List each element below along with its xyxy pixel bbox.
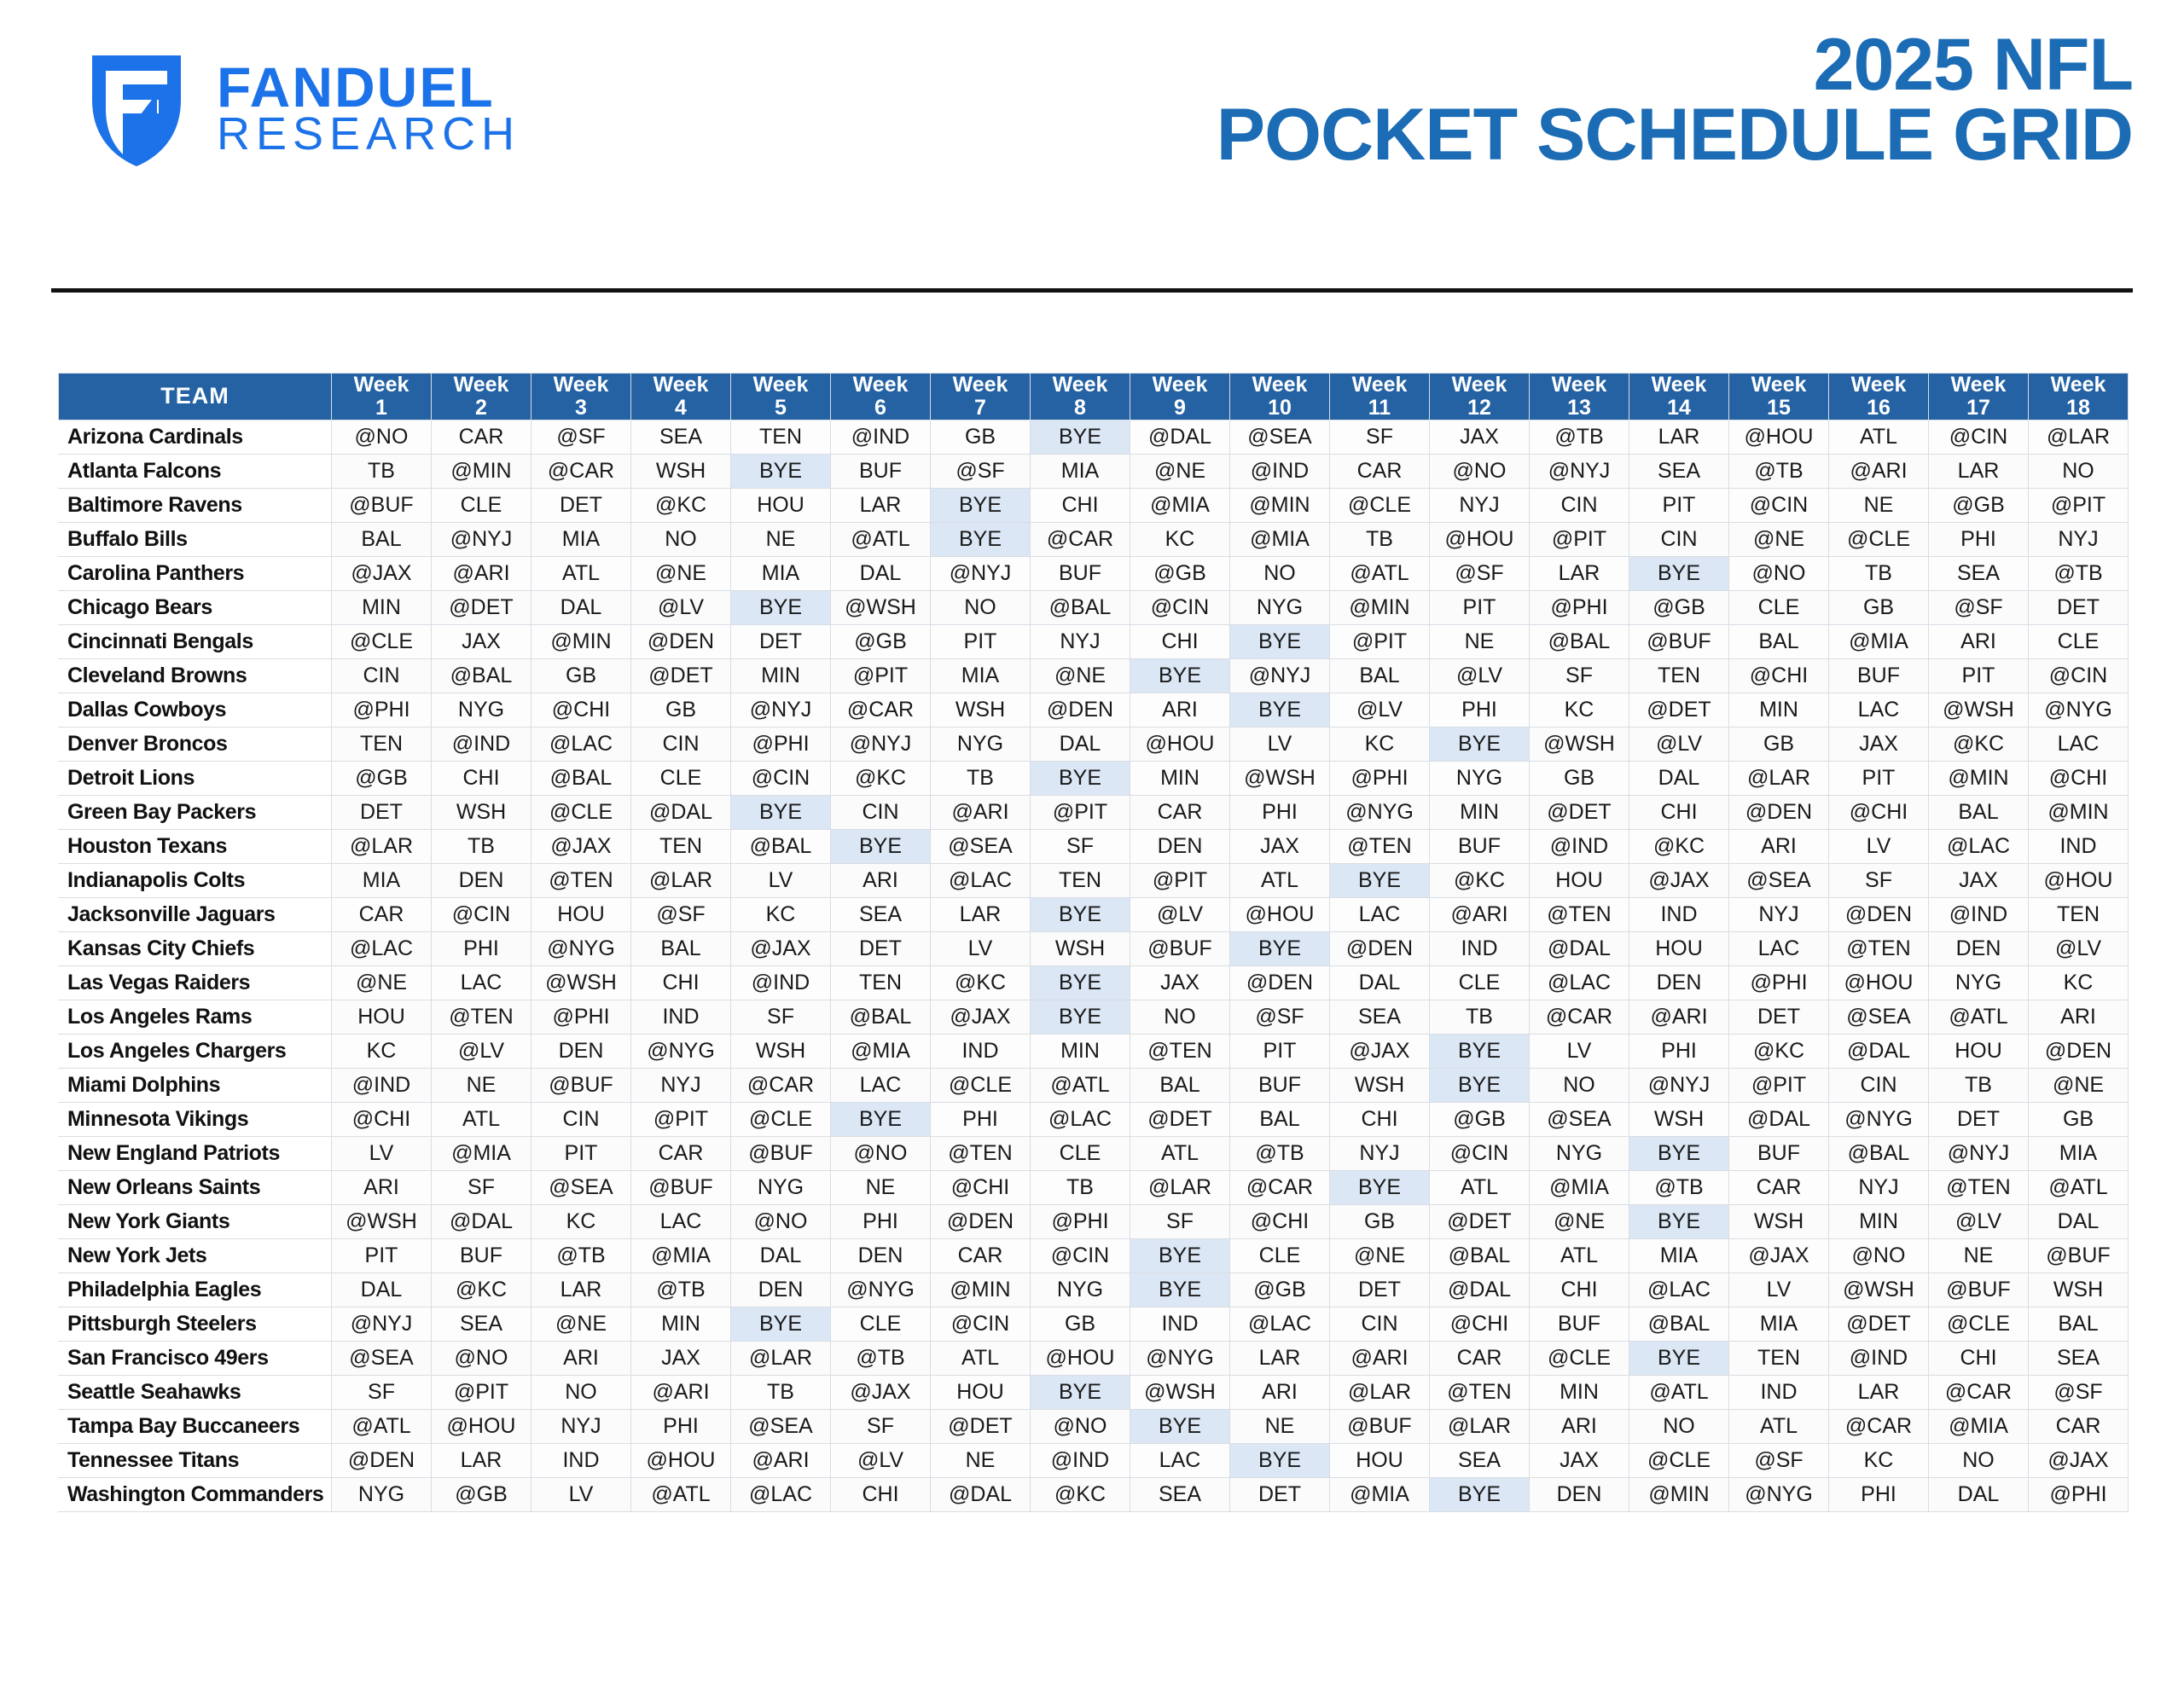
matchup-cell: LV [1230,727,1330,761]
matchup-cell: @PIT [1031,795,1130,829]
matchup-cell: @DAL [432,1204,531,1238]
table-row: New York JetsPITBUF@TB@MIADALDENCAR@CINB… [59,1238,2129,1272]
week-word: Week [1130,374,1229,397]
matchup-cell: GB [1829,590,1929,624]
team-name-cell: Cincinnati Bengals [59,624,332,658]
matchup-cell: DAL [531,590,631,624]
matchup-cell: @MIN [2029,795,2129,829]
table-row: Carolina Panthers@JAX@ARIATL@NEMIADAL@NY… [59,556,2129,590]
matchup-cell: @HOU [432,1409,531,1443]
matchup-cell: NYJ [2029,522,2129,556]
matchup-cell: MIN [1829,1204,1929,1238]
matchup-cell: NYJ [631,1068,731,1102]
matchup-cell: LAR [1929,454,2029,488]
matchup-cell: @IND [831,420,931,454]
matchup-cell: NO [531,1375,631,1409]
matchup-cell: @JAX [332,556,432,590]
matchup-cell: LAC [2029,727,2129,761]
matchup-cell: @PIT [1729,1068,1829,1102]
table-row: San Francisco 49ers@SEA@NOARIJAX@LAR@TBA… [59,1341,2129,1375]
matchup-cell: @BUF [531,1068,631,1102]
matchup-cell: MIA [1729,1307,1829,1341]
matchup-cell: @ARI [1629,1000,1729,1034]
matchup-cell: @SEA [332,1341,432,1375]
matchup-cell: @BUF [332,488,432,522]
matchup-cell: @LV [2029,931,2129,965]
matchup-cell: DET [332,795,432,829]
matchup-cell: @CIN [1729,488,1829,522]
matchup-cell: @DET [432,590,531,624]
matchup-cell: @TEN [1530,897,1629,931]
matchup-cell: @KC [931,965,1031,1000]
matchup-cell: CHI [1330,1102,1430,1136]
matchup-cell: @DEN [1829,897,1929,931]
matchup-cell: ATL [1530,1238,1629,1272]
matchup-cell: TEN [1729,1341,1829,1375]
matchup-cell: @MIA [1230,522,1330,556]
week-number: 18 [2029,397,2128,420]
matchup-cell: @DAL [631,795,731,829]
matchup-cell: DET [1230,1477,1330,1511]
matchup-cell: CIN [1629,522,1729,556]
matchup-cell: BUF [1230,1068,1330,1102]
matchup-cell: CHI [432,761,531,795]
matchup-cell: DEN [731,1272,831,1307]
matchup-cell: @IND [1929,897,2029,931]
team-name-cell: Dallas Cowboys [59,693,332,727]
matchup-cell: @LAC [1629,1272,1729,1307]
table-row: Los Angeles ChargersKC@LVDEN@NYGWSH@MIAI… [59,1034,2129,1068]
matchup-cell: @CIN [1430,1136,1530,1170]
matchup-cell: KC [1130,522,1230,556]
matchup-cell: ARI [1230,1375,1330,1409]
matchup-cell: @SEA [1530,1102,1629,1136]
matchup-cell: @WSH [1530,727,1629,761]
matchup-cell: MIN [1530,1375,1629,1409]
matchup-cell: @JAX [531,829,631,863]
bye-cell: BYE [1130,1272,1230,1307]
fanduel-shield-icon [85,47,188,171]
matchup-cell: NYJ [1031,624,1130,658]
matchup-cell: NO [931,590,1031,624]
matchup-cell: CIN [1330,1307,1430,1341]
bye-cell: BYE [931,522,1031,556]
week-number: 10 [1230,397,1329,420]
matchup-cell: TEN [731,420,831,454]
matchup-cell: @LV [1929,1204,2029,1238]
matchup-cell: @CLE [1629,1443,1729,1477]
bye-cell: BYE [1130,1409,1230,1443]
brand-wordmark: FANDUEL RESEARCH [217,61,520,155]
matchup-cell: @LAR [731,1341,831,1375]
table-row: Tennessee Titans@DENLARIND@HOU@ARI@LVNE@… [59,1443,2129,1477]
matchup-cell: @KC [1430,863,1530,897]
matchup-cell: NYG [1230,590,1330,624]
matchup-cell: SEA [2029,1341,2129,1375]
matchup-cell: @NE [1031,658,1130,693]
matchup-cell: SEA [432,1307,531,1341]
matchup-cell: @DET [1530,795,1629,829]
matchup-cell: @LV [1130,897,1230,931]
matchup-cell: HOU [731,488,831,522]
matchup-cell: IND [631,1000,731,1034]
matchup-cell: ATL [931,1341,1031,1375]
matchup-cell: WSH [631,454,731,488]
matchup-cell: @IND [731,965,831,1000]
matchup-cell: NYG [731,1170,831,1204]
matchup-cell: MIA [332,863,432,897]
matchup-cell: IND [531,1443,631,1477]
matchup-cell: @CAR [1530,1000,1629,1034]
matchup-cell: @BAL [1031,590,1130,624]
page-title-line1: 2025 NFL [1217,31,2133,101]
matchup-cell: LAR [831,488,931,522]
matchup-cell: @SF [1929,590,2029,624]
matchup-cell: NYG [432,693,531,727]
matchup-cell: @SEA [931,829,1031,863]
matchup-cell: @DEN [631,624,731,658]
team-name-cell: New England Patriots [59,1136,332,1170]
matchup-cell: @WSH [1929,693,2029,727]
matchup-cell: @CAR [1829,1409,1929,1443]
matchup-cell: @LV [432,1034,531,1068]
week-number: 5 [731,397,830,420]
week-word: Week [432,374,531,397]
matchup-cell: @TEN [1430,1375,1530,1409]
matchup-cell: @IND [1530,829,1629,863]
bye-cell: BYE [831,1102,931,1136]
matchup-cell: PHI [1230,795,1330,829]
matchup-cell: LAC [831,1068,931,1102]
matchup-cell: LAC [631,1204,731,1238]
matchup-cell: @LAC [531,727,631,761]
matchup-cell: NO [1130,1000,1230,1034]
matchup-cell: @MIN [931,1272,1031,1307]
team-name-cell: Houston Texans [59,829,332,863]
matchup-cell: @ARI [432,556,531,590]
matchup-cell: NE [1230,1409,1330,1443]
matchup-cell: @CIN [1130,590,1230,624]
matchup-cell: TEN [1031,863,1130,897]
matchup-cell: @CLE [332,624,432,658]
matchup-cell: @JAX [1629,863,1729,897]
matchup-cell: LV [731,863,831,897]
matchup-cell: @PHI [531,1000,631,1034]
matchup-cell: @LAC [332,931,432,965]
matchup-cell: TEN [1629,658,1729,693]
matchup-cell: @BAL [831,1000,931,1034]
matchup-cell: @KC [1031,1477,1130,1511]
matchup-cell: SF [1031,829,1130,863]
bye-cell: BYE [1130,658,1230,693]
matchup-cell: CHI [1530,1272,1629,1307]
matchup-cell: @WSH [1130,1375,1230,1409]
matchup-cell: @NYG [1829,1102,1929,1136]
matchup-cell: @LAR [1330,1375,1430,1409]
matchup-cell: @NYG [1130,1341,1230,1375]
matchup-cell: @NE [1530,1204,1629,1238]
matchup-cell: CHI [831,1477,931,1511]
matchup-cell: CAR [931,1238,1031,1272]
matchup-cell: @DAL [1829,1034,1929,1068]
matchup-cell: @CHI [1829,795,1929,829]
matchup-cell: NO [631,522,731,556]
matchup-cell: JAX [1430,420,1530,454]
column-header-week-14: Week14 [1629,374,1729,420]
matchup-cell: TEN [2029,897,2129,931]
matchup-cell: DEN [1530,1477,1629,1511]
matchup-cell: @CAR [831,693,931,727]
matchup-cell: CIN [1530,488,1629,522]
team-name-cell: San Francisco 49ers [59,1341,332,1375]
matchup-cell: @BAL [432,658,531,693]
matchup-cell: @KC [631,488,731,522]
matchup-cell: IND [2029,829,2129,863]
matchup-cell: @PIT [2029,488,2129,522]
bye-cell: BYE [1629,1204,1729,1238]
team-name-cell: Tampa Bay Buccaneers [59,1409,332,1443]
matchup-cell: CHI [1629,795,1729,829]
team-name-cell: Las Vegas Raiders [59,965,332,1000]
matchup-cell: BUF [432,1238,531,1272]
bye-cell: BYE [1031,897,1130,931]
matchup-cell: BAL [1230,1102,1330,1136]
matchup-cell: @ATL [2029,1170,2129,1204]
matchup-cell: @ATL [1929,1000,2029,1034]
matchup-cell: @BUF [631,1170,731,1204]
matchup-cell: @DEN [1031,693,1130,727]
matchup-cell: NYG [1929,965,2029,1000]
matchup-cell: LAR [1230,1341,1330,1375]
matchup-cell: @CHI [1430,1307,1530,1341]
bye-cell: BYE [1031,965,1130,1000]
matchup-cell: @SEA [1829,1000,1929,1034]
matchup-cell: BAL [2029,1307,2129,1341]
matchup-cell: LAR [1629,420,1729,454]
week-number: 14 [1629,397,1728,420]
team-name-cell: New York Giants [59,1204,332,1238]
matchup-cell: KC [332,1034,432,1068]
matchup-cell: TEN [631,829,731,863]
matchup-cell: CIN [332,658,432,693]
matchup-cell: @ARI [1330,1341,1430,1375]
page-title-line2: POCKET SCHEDULE GRID [1217,101,2133,171]
matchup-cell: @WSH [831,590,931,624]
matchup-cell: HOU [1929,1034,2029,1068]
matchup-cell: @BUF [1330,1409,1430,1443]
table-row: New Orleans SaintsARISF@SEA@BUFNYGNE@CHI… [59,1170,2129,1204]
matchup-cell: @PIT [631,1102,731,1136]
bye-cell: BYE [1430,1477,1530,1511]
column-header-week-17: Week17 [1929,374,2029,420]
matchup-cell: GB [1729,727,1829,761]
schedule-grid: TEAMWeek1Week2Week3Week4Week5Week6Week7W… [58,373,2126,1512]
matchup-cell: HOU [1330,1443,1430,1477]
matchup-cell: PHI [831,1204,931,1238]
table-row: Jacksonville JaguarsCAR@CINHOU@SFKCSEALA… [59,897,2129,931]
matchup-cell: @NYJ [1530,454,1629,488]
matchup-cell: DAL [1929,1477,2029,1511]
matchup-cell: DET [1729,1000,1829,1034]
matchup-cell: @NYJ [1230,658,1330,693]
matchup-cell: PHI [931,1102,1031,1136]
matchup-cell: LAR [432,1443,531,1477]
matchup-cell: @SF [931,454,1031,488]
matchup-cell: DAL [831,556,931,590]
team-name-cell: New York Jets [59,1238,332,1272]
matchup-cell: @HOU [1430,522,1530,556]
matchup-cell: LAR [931,897,1031,931]
table-row: Cincinnati Bengals@CLEJAX@MIN@DENDET@GBP… [59,624,2129,658]
matchup-cell: @BUF [1929,1272,2029,1307]
matchup-cell: @DEN [1230,965,1330,1000]
week-number: 9 [1130,397,1229,420]
matchup-cell: @NYJ [831,727,931,761]
matchup-cell: @CLE [731,1102,831,1136]
matchup-cell: @NYG [631,1034,731,1068]
matchup-cell: TB [1929,1068,2029,1102]
week-number: 15 [1729,397,1828,420]
matchup-cell: PIT [931,624,1031,658]
matchup-cell: JAX [1230,829,1330,863]
matchup-cell: CIN [831,795,931,829]
matchup-cell: @TEN [1330,829,1430,863]
matchup-cell: CLE [631,761,731,795]
matchup-cell: @TB [831,1341,931,1375]
matchup-cell: DEN [1130,829,1230,863]
matchup-cell: @CIN [2029,658,2129,693]
matchup-cell: HOU [531,897,631,931]
matchup-cell: @LAC [1031,1102,1130,1136]
matchup-cell: PHI [631,1409,731,1443]
table-row: Green Bay PackersDETWSH@CLE@DALBYECIN@AR… [59,795,2129,829]
week-word: Week [332,374,431,397]
matchup-cell: LV [332,1136,432,1170]
week-number: 7 [931,397,1030,420]
matchup-cell: TB [1829,556,1929,590]
matchup-cell: @LV [1330,693,1430,727]
matchup-cell: TB [432,829,531,863]
matchup-cell: PHI [432,931,531,965]
team-name-cell: Los Angeles Chargers [59,1034,332,1068]
team-name-cell: Buffalo Bills [59,522,332,556]
matchup-cell: JAX [1829,727,1929,761]
matchup-cell: NE [1430,624,1530,658]
matchup-cell: ATL [432,1102,531,1136]
matchup-cell: PIT [1230,1034,1330,1068]
table-row: New England PatriotsLV@MIAPITCAR@BUF@NO@… [59,1136,2129,1170]
matchup-cell: @LAC [1530,965,1629,1000]
week-word: Week [731,374,830,397]
matchup-cell: @HOU [2029,863,2129,897]
matchup-cell: SEA [1430,1443,1530,1477]
table-body: Arizona Cardinals@NOCAR@SFSEATEN@INDGBBY… [59,420,2129,1511]
matchup-cell: @LAR [1130,1170,1230,1204]
team-name-cell: Pittsburgh Steelers [59,1307,332,1341]
matchup-cell: CAR [432,420,531,454]
matchup-cell: @DAL [1130,420,1230,454]
matchup-cell: ATL [1729,1409,1829,1443]
matchup-cell: @TEN [931,1136,1031,1170]
matchup-cell: @HOU [631,1443,731,1477]
matchup-cell: KC [1530,693,1629,727]
matchup-cell: @LAC [731,1477,831,1511]
bye-cell: BYE [931,488,1031,522]
bye-cell: BYE [1130,1238,1230,1272]
matchup-cell: SF [731,1000,831,1034]
matchup-cell: @CHI [2029,761,2129,795]
week-word: Week [1629,374,1728,397]
team-name-cell: Miami Dolphins [59,1068,332,1102]
team-name-cell: Los Angeles Rams [59,1000,332,1034]
matchup-cell: CHI [1929,1341,2029,1375]
matchup-cell: MIA [731,556,831,590]
bye-cell: BYE [1031,761,1130,795]
table-row: Tampa Bay Buccaneers@ATL@HOUNYJPHI@SEASF… [59,1409,2129,1443]
matchup-cell: IND [1130,1307,1230,1341]
matchup-cell: @TB [531,1238,631,1272]
matchup-cell: BUF [1031,556,1130,590]
matchup-cell: JAX [432,624,531,658]
matchup-cell: GB [631,693,731,727]
week-number: 16 [1829,397,1928,420]
matchup-cell: LAR [1530,556,1629,590]
matchup-cell: @HOU [1031,1341,1130,1375]
matchup-cell: DEN [432,863,531,897]
matchup-cell: @CLE [1330,488,1430,522]
matchup-cell: @CHI [1230,1204,1330,1238]
matchup-cell: @PHI [1330,761,1430,795]
column-header-week-3: Week3 [531,374,631,420]
matchup-cell: @BAL [1829,1136,1929,1170]
bye-cell: BYE [1230,1443,1330,1477]
matchup-cell: @WSH [1230,761,1330,795]
table-row: Arizona Cardinals@NOCAR@SFSEATEN@INDGBBY… [59,420,2129,454]
page-title: 2025 NFL POCKET SCHEDULE GRID [1217,31,2133,170]
week-word: Week [1230,374,1329,397]
week-number: 3 [531,397,630,420]
matchup-cell: @SF [2029,1375,2129,1409]
matchup-cell: @ATL [1031,1068,1130,1102]
matchup-cell: ARI [531,1341,631,1375]
column-header-week-7: Week7 [931,374,1031,420]
matchup-cell: ARI [1130,693,1230,727]
matchup-cell: NYG [1031,1272,1130,1307]
matchup-cell: GB [531,658,631,693]
team-name-cell: Tennessee Titans [59,1443,332,1477]
week-word: Week [1031,374,1130,397]
matchup-cell: @ARI [731,1443,831,1477]
matchup-cell: NYJ [1829,1170,1929,1204]
matchup-cell: @TB [2029,556,2129,590]
matchup-cell: BUF [1530,1307,1629,1341]
matchup-cell: @DET [1130,1102,1230,1136]
matchup-cell: ARI [1530,1409,1629,1443]
matchup-cell: PIT [1430,590,1530,624]
matchup-cell: CLE [2029,624,2129,658]
table-row: Philadelphia EaglesDAL@KCLAR@TBDEN@NYG@M… [59,1272,2129,1307]
matchup-cell: ARI [831,863,931,897]
team-name-cell: Denver Broncos [59,727,332,761]
matchup-cell: WSH [1729,1204,1829,1238]
matchup-cell: CHI [1130,624,1230,658]
column-header-week-5: Week5 [731,374,831,420]
matchup-cell: NO [1230,556,1330,590]
matchup-cell: @SEA [731,1409,831,1443]
matchup-cell: @NO [831,1136,931,1170]
matchup-cell: @DEN [2029,1034,2129,1068]
matchup-cell: SF [1829,863,1929,897]
